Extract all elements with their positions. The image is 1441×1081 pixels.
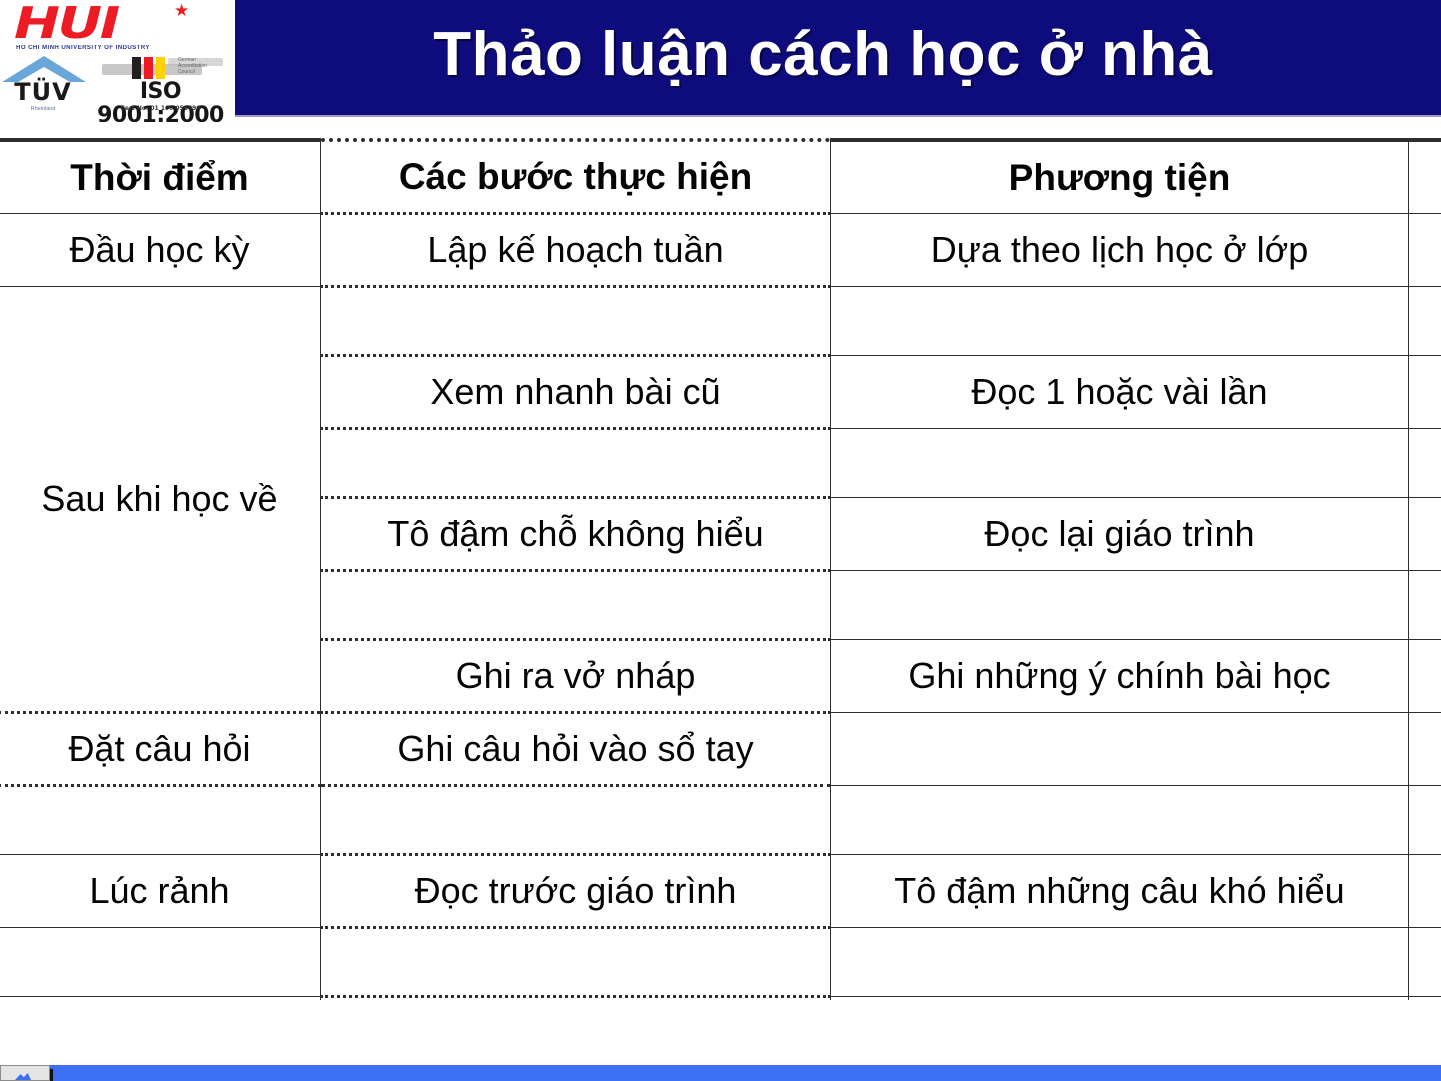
iso-standard-text: ISO 9001:2000 [88,80,233,122]
cell-means-5: Tô đậm những câu khó hiểu [831,855,1409,928]
spacer-means-b [831,429,1409,498]
cell-extra-5 [1409,855,1441,928]
spacer-steps-c [321,571,831,640]
spacer-steps-a [321,287,831,356]
table-row: Đặt câu hỏi Ghi câu hỏi vào sổ tay [0,713,1441,786]
cell-extra-6 [1409,997,1441,1001]
column-header-steps: Các bước thực hiện [321,140,831,214]
german-flag-red-bar-icon [144,57,153,79]
table-header-row: Thời điểm Các bước thực hiện Phương tiện [0,140,1441,214]
spacer-steps-e [321,928,831,997]
table-spacer-row [0,786,1441,855]
spacer-extra-e [1409,928,1441,997]
cell-steps-2: Tô đậm chỗ không hiểu [321,498,831,571]
cell-means-6: E-mail/trực tiếp [831,997,1409,1001]
spacer-time-d [0,786,321,855]
cell-steps-0: Lập kế hoạch tuần [321,214,831,287]
cell-means-1: Đọc 1 hoặc vài lần [831,356,1409,429]
iso-tagline: German Accreditation Council [178,57,207,75]
star-icon: ★ [174,2,189,19]
spacer-time-e [0,928,321,997]
cell-steps-5: Đọc trước giáo trình [321,855,831,928]
german-flag-yellow-bar-icon [156,57,165,79]
cell-steps-3: Ghi ra vở nháp [321,640,831,713]
window-restore-icon [15,1073,31,1080]
spacer-extra-b [1409,429,1441,498]
cell-means-4: Ghi câu hỏi vào sổ tay [321,713,831,786]
cell-steps-6: Hỏi GV [321,997,831,1001]
cell-time-6: Tuần học tiếp [0,997,321,1001]
hui-wordmark: HUI [14,2,118,46]
cell-steps-4: Đặt câu hỏi [0,713,321,786]
table-spacer-row [0,928,1441,997]
institution-logo-block: HUI ★ HO CHI MINH UNIVERSITY OF INDUSTRY… [0,0,235,122]
study-plan-table: Thời điểm Các bước thực hiện Phương tiện… [0,138,1441,1000]
tuv-letters: TÜV [0,80,86,105]
cell-extra-0 [1409,214,1441,287]
column-header-means: Phương tiện [831,140,1409,214]
spacer-steps-b [321,429,831,498]
cell-means-0: Dựa theo lịch học ở lớp [831,214,1409,287]
spacer-means-c [831,571,1409,640]
hui-subtitle: HO CHI MINH UNIVERSITY OF INDUSTRY [16,45,150,52]
cell-time-0: Đầu học kỳ [0,214,321,287]
table-spacer-row: Sau khi học về [0,287,1441,356]
table-row: Đầu học kỳ Lập kế hoạch tuần Dựa theo lị… [0,214,1441,287]
hui-logo: HUI ★ HO CHI MINH UNIVERSITY OF INDUSTRY [6,2,226,54]
tuv-caption: Rheinland [0,106,86,113]
iso-certificate-number: Cert No. 01 100 056890 [88,105,233,113]
column-header-time: Thời điểm [0,140,321,214]
spacer-means-e [831,928,1409,997]
spacer-means-a [831,287,1409,356]
taskbar-caret [50,1069,53,1081]
cell-steps-1: Xem nhanh bài cũ [321,356,831,429]
table-row: Tuần học tiếp Hỏi GV E-mail/trực tiếp [0,997,1441,1001]
cell-time-1-merged: Sau khi học về [0,287,321,713]
spacer-extra-c [1409,571,1441,640]
cell-extra-1 [1409,356,1441,429]
spacer-means-d [831,786,1409,855]
taskbar-start-button[interactable] [0,1065,50,1081]
spacer-extra-a [1409,287,1441,356]
slide-header: HUI ★ HO CHI MINH UNIVERSITY OF INDUSTRY… [0,0,1441,122]
page-title: Thảo luận cách học ở nhà [235,0,1411,115]
title-banner: Thảo luận cách học ở nhà [235,0,1441,115]
cell-means-3: Ghi những ý chính bài học [831,640,1409,713]
iso-certification-logo: German Accreditation Council ISO 9001:20… [88,56,233,118]
cell-extra-3 [1409,640,1441,713]
cell-time-5: Lúc rảnh [0,855,321,928]
cell-extra-2 [1409,498,1441,571]
cell-means-2: Đọc lại giáo trình [831,498,1409,571]
german-flag-black-bar-icon [132,57,141,79]
column-header-extra [1409,140,1441,214]
spacer-extra-d [1409,786,1441,855]
tuv-logo: TÜV Rheinland [0,56,86,118]
spacer-steps-d [321,786,831,855]
taskbar[interactable] [0,1065,1441,1081]
table-row: Lúc rảnh Đọc trước giáo trình Tô đậm nhữ… [0,855,1441,928]
cell-extra-4 [831,713,1409,786]
study-plan-table-container: Thời điểm Các bước thực hiện Phương tiện… [0,138,1441,1000]
